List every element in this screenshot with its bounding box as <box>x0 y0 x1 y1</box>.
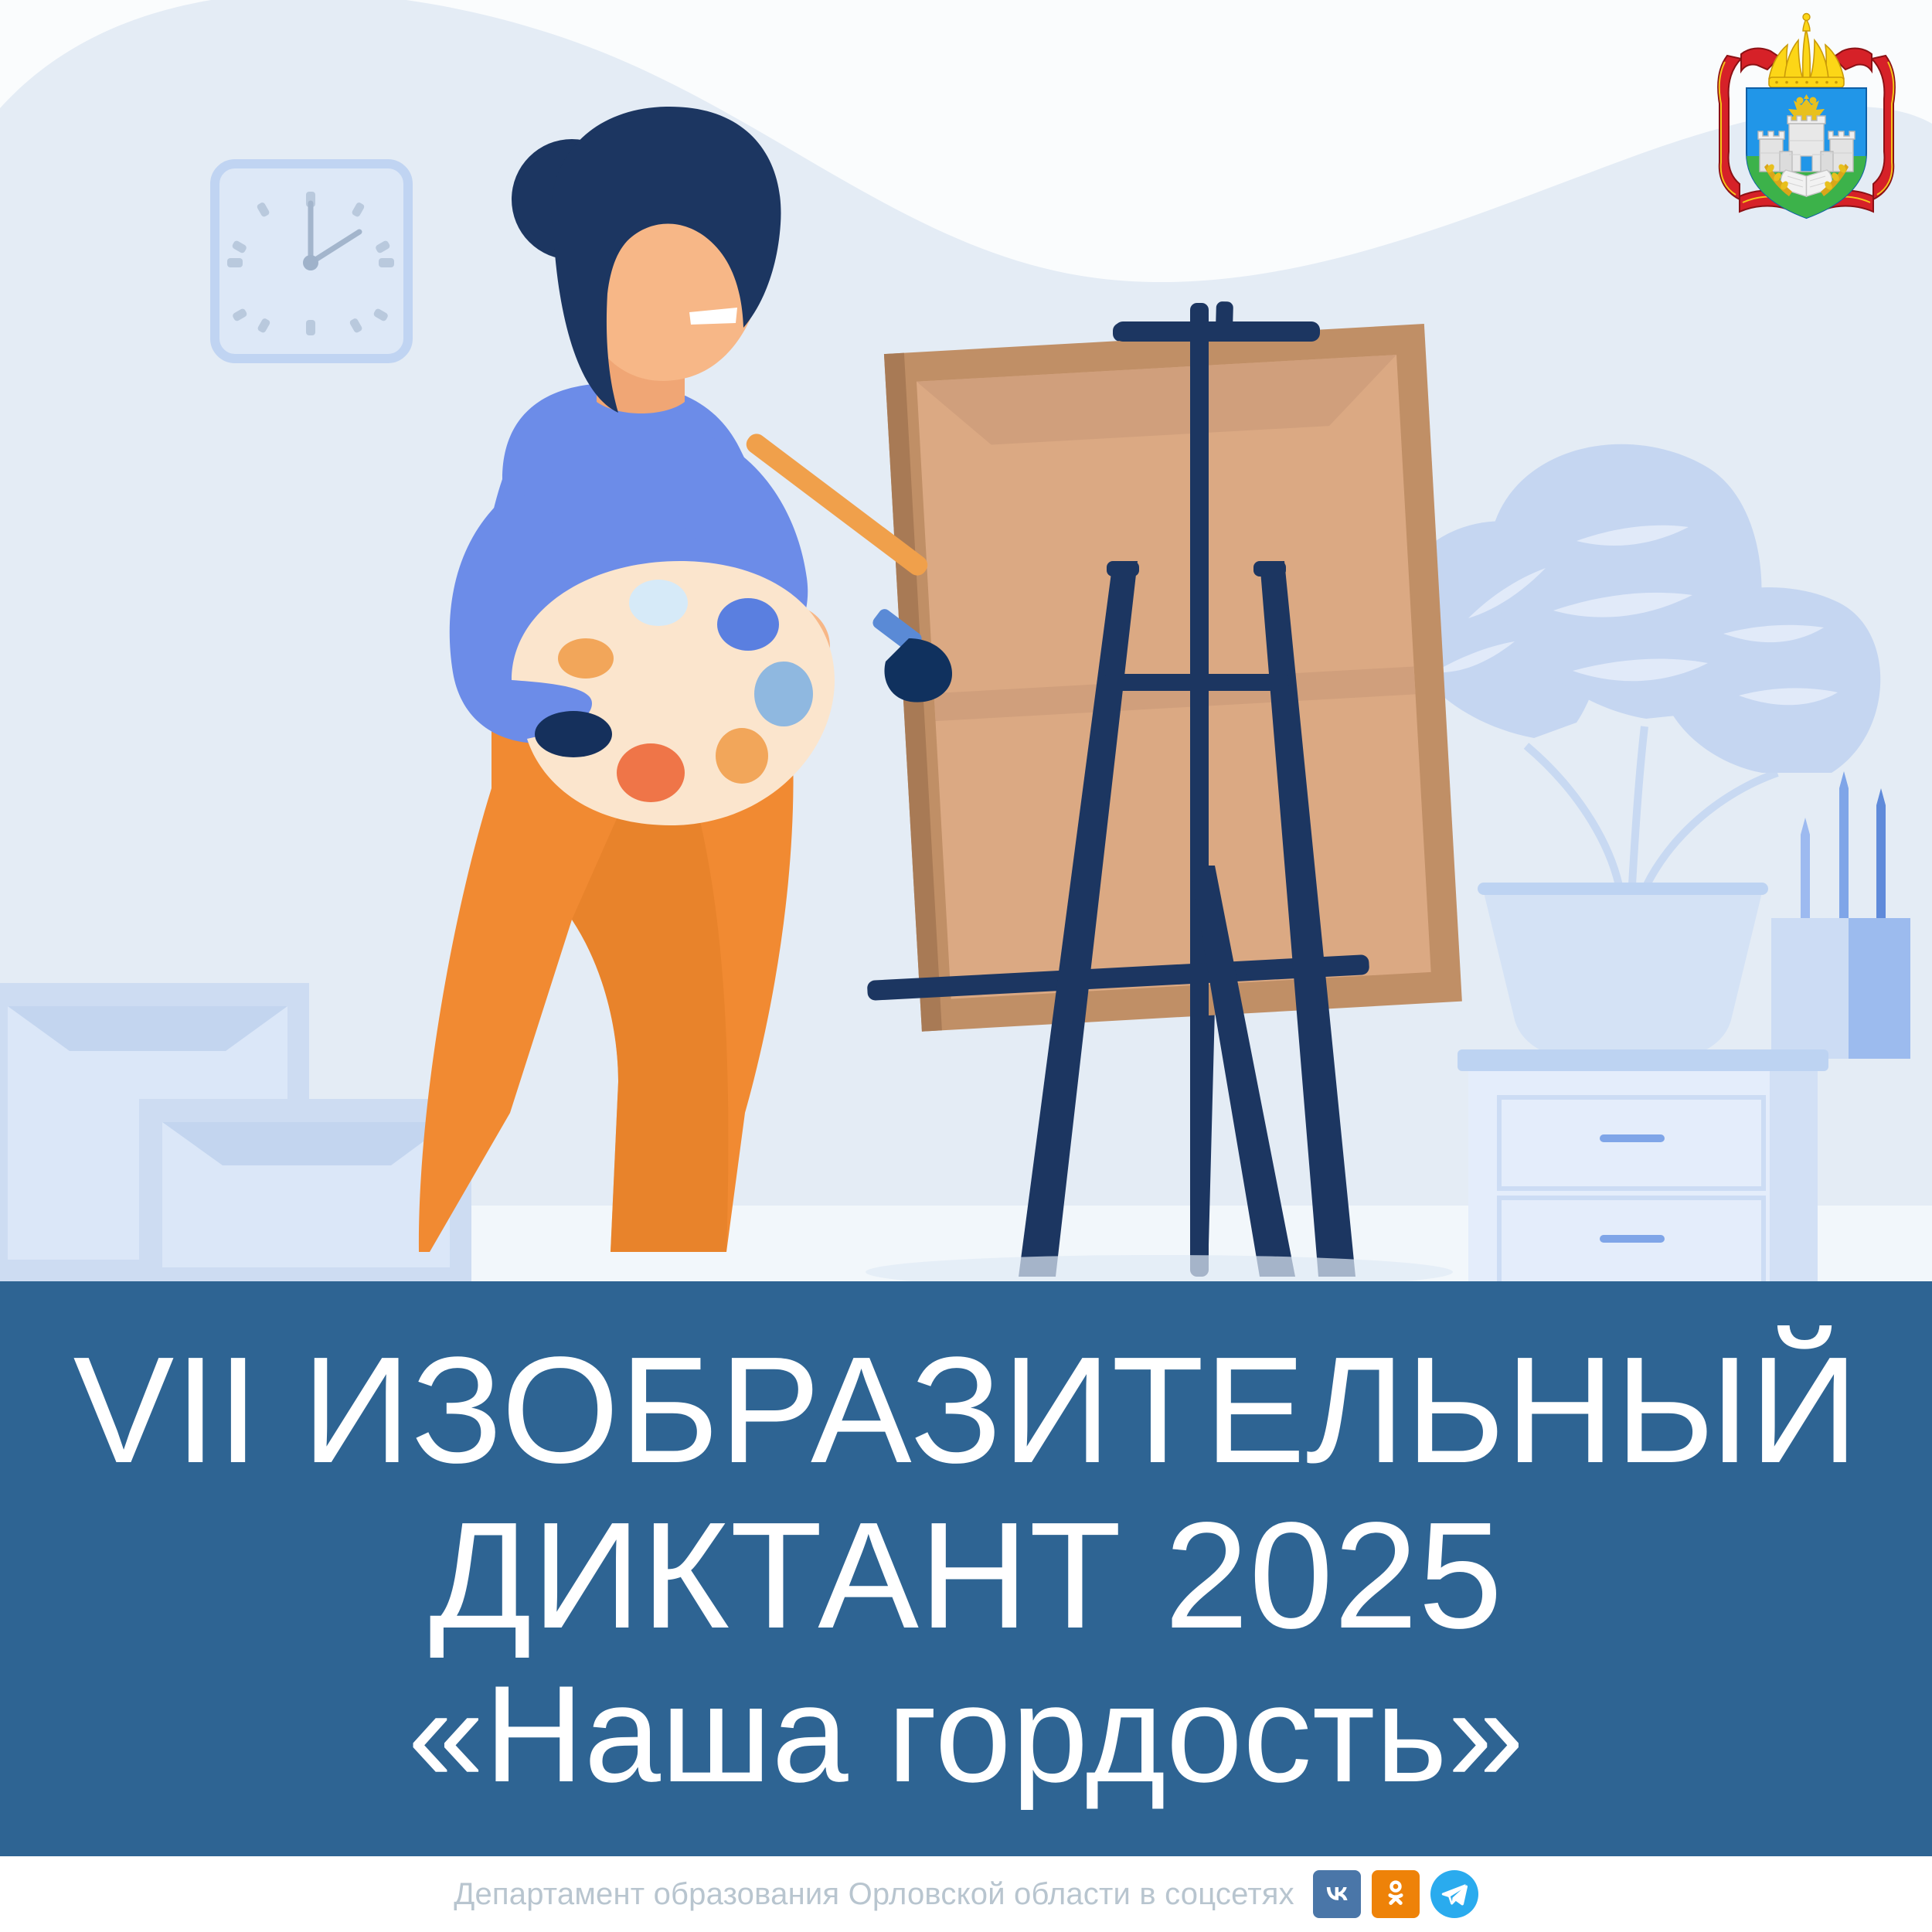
title-line-3: «Наша гордость» <box>407 1665 1524 1803</box>
title-line-1: VII ИЗОБРАЗИТЕЛЬНЫЙ <box>73 1335 1859 1486</box>
title-line-2: ДИКТАНТ 2025 <box>429 1500 1502 1651</box>
title-band: VII ИЗОБРАЗИТЕЛЬНЫЙ ДИКТАНТ 2025 «Наша г… <box>0 1281 1932 1856</box>
palette-dot-6 <box>535 711 612 757</box>
odnoklassniki-icon[interactable] <box>1372 1870 1420 1918</box>
footer-bar: Департамент образования Орловской област… <box>0 1856 1932 1932</box>
vk-icon[interactable] <box>1313 1870 1361 1918</box>
illustration-scene <box>0 0 1932 1283</box>
palette-dot-2 <box>717 598 779 651</box>
coat-of-arms-oryol <box>1712 8 1901 232</box>
illustration-svg <box>0 0 1932 1283</box>
palette-dot-7 <box>558 638 614 679</box>
wall-clock-icon <box>215 164 408 359</box>
footer-text: Департамент образования Орловской област… <box>454 1877 1294 1912</box>
social-links <box>1313 1870 1478 1918</box>
palette-dot-5 <box>617 743 685 802</box>
poster-root: VII ИЗОБРАЗИТЕЛЬНЫЙ ДИКТАНТ 2025 «Наша г… <box>0 0 1932 1932</box>
telegram-icon[interactable] <box>1430 1870 1478 1918</box>
palette-dot-3 <box>754 662 813 726</box>
emblem-crown <box>1769 14 1844 88</box>
palette-dot-4 <box>716 728 768 784</box>
palette-dot-1 <box>629 580 688 626</box>
coat-of-arms-svg <box>1712 8 1901 232</box>
cabinet-icon <box>1458 1049 1828 1283</box>
